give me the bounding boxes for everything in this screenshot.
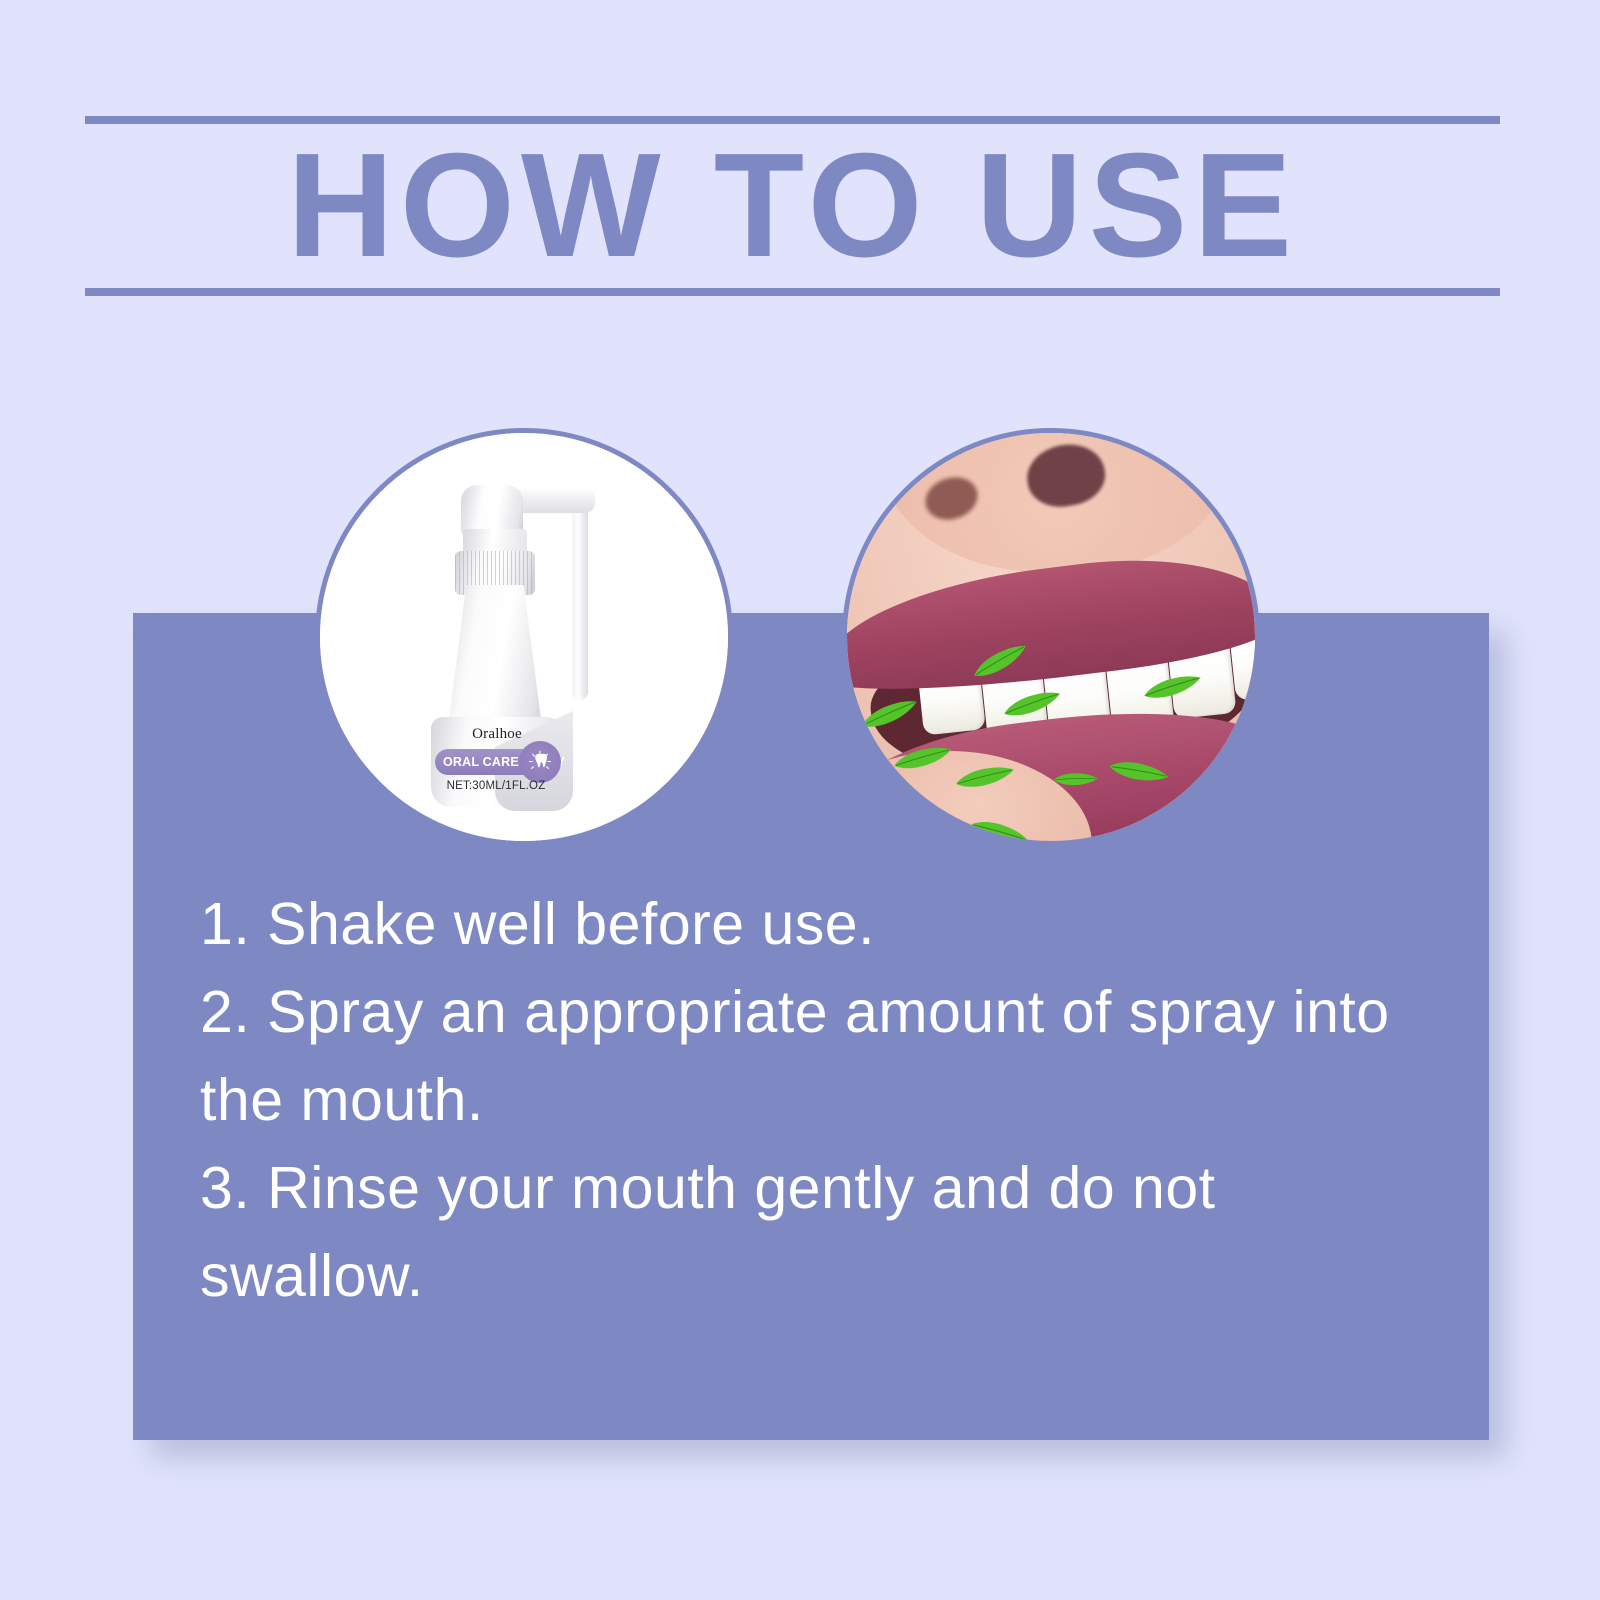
bottle-nozzle-tube (572, 505, 588, 700)
step-item-3: 3. Rinse your mouth gently and do not sw… (200, 1144, 1430, 1320)
bottle-nozzle-arm (517, 487, 595, 513)
page-header: HOW TO USE (85, 116, 1500, 296)
bottle-body (447, 585, 543, 735)
lifestyle-image-circle (842, 428, 1260, 846)
bottle-cap (461, 485, 523, 535)
step-item-1: 1. Shake well before use. (200, 880, 1430, 968)
page-title: HOW TO USE (85, 132, 1500, 280)
mint-leaf-icon (1052, 769, 1099, 792)
product-net-weight: NET:30ML/1FL.OZ (435, 780, 557, 792)
header-rule-bottom (85, 288, 1500, 296)
product-label-band: ORAL CARE SPRAY (435, 749, 557, 775)
how-to-use-poster: HOW TO USE 1. Shake well before use. 2. … (0, 0, 1600, 1600)
steps-list: 1. Shake well before use. 2. Spray an ap… (200, 880, 1430, 1320)
product-image-circle: Oralhoe ORAL CARE SPRAY (315, 428, 733, 846)
product-photo: Oralhoe ORAL CARE SPRAY (320, 433, 728, 841)
mouth-photo (847, 433, 1255, 841)
spray-bottle-illustration: Oralhoe ORAL CARE SPRAY (399, 467, 649, 807)
tooth-icon (519, 741, 561, 783)
step-item-2: 2. Spray an appropriate amount of spray … (200, 968, 1430, 1144)
